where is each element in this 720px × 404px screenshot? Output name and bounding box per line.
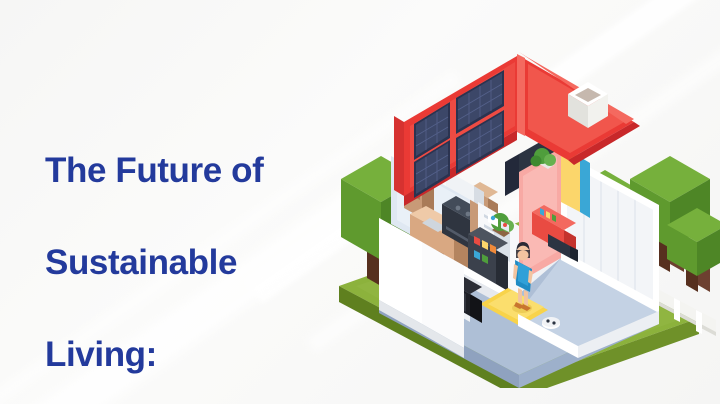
title-line-3: Living: [45, 332, 345, 378]
title-line-1: The Future of [45, 148, 345, 194]
title-line-2: Sustainable [45, 240, 345, 286]
page-title: The Future of Sustainable Living: Green … [45, 102, 345, 404]
roof-gable-edge [517, 54, 525, 136]
eco-house-illustration [318, 36, 720, 388]
tree-right-short [667, 208, 720, 292]
poster-canvas: The Future of Sustainable Living: Green … [0, 0, 720, 404]
robot-vacuum [542, 317, 560, 329]
